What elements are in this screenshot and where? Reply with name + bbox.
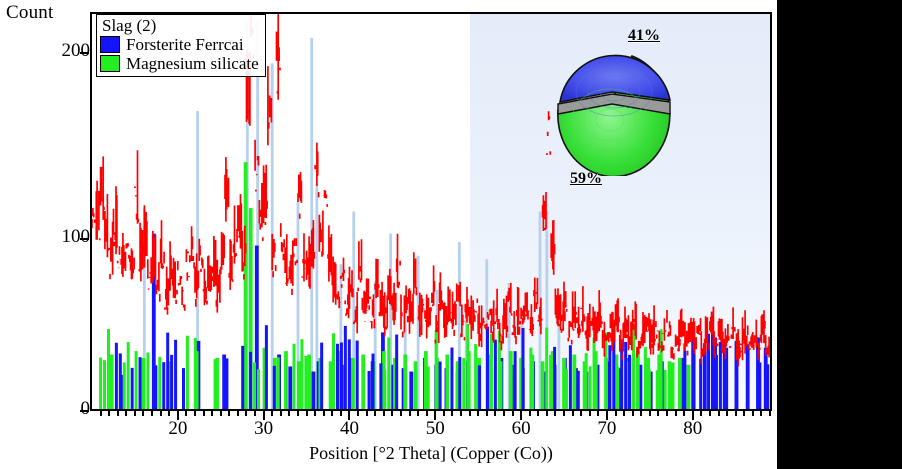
reference-stick [678,358,682,409]
x-tick-label: 60 [501,418,541,440]
x-tick-minor [451,411,453,416]
x-tick-minor [443,411,445,416]
x-tick-minor [400,411,402,416]
reference-stick [241,346,244,409]
x-tick-minor [357,411,359,416]
reference-stick [624,342,627,409]
x-tick-minor [306,411,308,416]
x-tick-minor [709,411,711,416]
y-tick-label-0: 0 [20,398,90,420]
x-tick-minor [125,411,127,416]
reference-stick [361,355,365,409]
reference-stick [589,366,592,409]
screenshot-root: Count 0 100 200 20304050607080 Position … [0,0,902,469]
x-tick-minor [409,411,411,416]
x-tick-minor [597,411,599,416]
reference-stick [182,368,185,409]
reference-stick [553,347,556,409]
x-tick-minor [168,411,170,416]
reference-stick [371,354,374,409]
x-tick-label: 40 [329,418,369,440]
x-tick-label: 50 [415,418,455,440]
x-tick-minor [366,411,368,416]
reference-stick [336,344,339,409]
reference-stick [194,338,197,409]
reference-stick [154,365,157,409]
reference-stick [565,369,568,409]
x-tick-minor [460,411,462,416]
x-tick-minor [340,411,342,416]
reference-stick [758,362,761,409]
x-tick-label: 20 [158,418,198,440]
reference-stick [486,327,489,409]
x-tick-minor [391,411,393,416]
reference-stick [265,325,268,409]
x-tick-minor [486,411,488,416]
reference-stick [766,364,769,409]
x-tick-minor [469,411,471,416]
x-tick-minor [666,411,668,416]
legend-swatch-green [100,55,120,72]
reference-stick [509,351,513,409]
reference-stick [174,340,177,409]
reference-stick [158,357,161,409]
reference-stick [458,357,461,409]
reference-stick [687,365,691,409]
reference-stick [644,347,647,409]
x-tick-minor [245,411,247,416]
reference-stick [127,342,130,409]
x-tick-minor [726,411,728,416]
x-tick-label: 80 [673,418,713,440]
reference-stick [522,328,525,409]
reference-stick [285,362,288,409]
reference-stick [577,371,580,409]
reference-stick [123,362,126,409]
x-tick-minor [572,411,574,416]
x-tick-minor [563,411,565,416]
x-tick-minor [374,411,376,416]
reference-stick [549,355,552,409]
reference-stick [672,362,675,409]
legend-label-magnesium-silicate: Magnesium silicate [126,54,259,73]
reference-stick [288,366,292,409]
x-tick-minor [589,411,591,416]
reference-stick [462,358,465,409]
reference-stick [253,362,256,409]
x-tick-minor [211,411,213,416]
x-tick-minor [134,411,136,416]
reference-stick [293,344,296,409]
reference-stick [119,353,122,409]
reference-stick [225,358,228,409]
x-tick-minor [503,411,505,416]
reference-stick [414,361,418,409]
x-tick-label: 30 [244,418,284,440]
reference-stick [427,367,430,409]
y-tick-label-100: 100 [20,226,90,248]
reference-stick [656,370,659,409]
reference-stick [135,351,138,409]
reference-stick [403,355,407,409]
reference-stick [498,331,501,409]
x-tick-minor [615,411,617,416]
reference-stick [332,333,335,409]
reference-stick [249,352,252,409]
reference-stick [297,361,301,409]
x-tick-minor [220,411,222,416]
x-tick-minor [237,411,239,416]
reference-stick [466,324,469,409]
x-tick-minor [323,411,325,416]
reference-stick [746,344,750,409]
reference-stick [409,372,413,409]
pie-label-forsterite: 41% [628,27,660,45]
x-tick-minor [683,411,685,416]
x-tick-minor [580,411,582,416]
x-tick-minor [280,411,282,416]
legend-title: Slag (2) [100,16,259,35]
reference-stick [170,355,173,409]
x-tick-minor [760,411,762,416]
reference-stick [146,352,149,409]
phase-pie-chart [546,34,682,176]
reference-stick [585,353,588,409]
reference-stick [628,355,631,409]
x-tick-minor [254,411,256,416]
reference-stick [387,337,390,409]
reference-stick [139,357,142,409]
x-tick-minor [160,411,162,416]
x-tick-minor [657,411,659,416]
reference-stick [719,342,722,409]
x-tick-minor [117,411,119,416]
reference-stick [490,334,493,409]
reference-stick [344,326,347,409]
reference-stick [186,336,189,409]
x-tick-minor [512,411,514,416]
reference-stick [304,356,307,409]
x-tick-minor [185,411,187,416]
reference-stick [244,162,248,409]
reference-stick [715,355,718,409]
reference-stick [383,370,386,409]
reference-stick [478,365,481,409]
x-tick-minor [529,411,531,416]
x-axis-title: Position [°2 Theta] (Copper (Co)) [90,443,772,464]
reference-stick [99,358,102,409]
reference-stick [683,350,686,409]
reference-stick [395,335,398,409]
x-tick-minor [108,411,110,416]
x-tick-minor [623,411,625,416]
x-tick-minor [383,411,385,416]
reference-stick [648,370,651,409]
reference-stick [572,355,576,409]
x-tick-minor [769,411,771,416]
x-tick-minor [297,411,299,416]
pie-svg [546,34,682,176]
x-tick-minor [426,411,428,416]
x-tick-minor [477,411,479,416]
reference-stick [445,355,449,409]
reference-stick [699,359,702,409]
x-tick-minor [752,411,754,416]
reference-stick [569,345,572,409]
legend-label-forsterite: Forsterite Ferrcai [126,35,244,54]
y-axis: 0 100 200 [0,0,90,469]
legend-item-magnesium-silicate: Magnesium silicate [100,54,259,73]
reference-stick [312,372,316,409]
reference-stick [529,348,532,409]
pie-label-magnesium-silicate: 59% [570,170,602,188]
x-tick-minor [554,411,556,416]
reference-stick [257,369,260,409]
reference-stick [356,341,359,409]
x-tick-minor [700,411,702,416]
reference-stick [541,361,545,409]
legend-item-forsterite: Forsterite Ferrcai [100,35,259,54]
x-tick-minor [288,411,290,416]
reference-stick [162,362,165,409]
reference-stick [307,355,311,409]
reference-stick [439,362,442,409]
reference-stick [348,339,351,409]
x-tick-minor [546,411,548,416]
x-tick-minor [718,411,720,416]
reference-stick [593,338,596,409]
x-tick-minor [649,411,651,416]
reference-stick [668,361,672,409]
x-tick-minor [228,411,230,416]
x-tick-minor [331,411,333,416]
reference-stick [616,367,619,409]
y-tick-label-200: 200 [20,40,90,62]
reference-stick [494,340,497,409]
reference-stick [514,351,517,409]
reference-stick [351,358,355,409]
reference-stick [103,360,106,409]
x-tick-minor [417,411,419,416]
x-tick-minor [632,411,634,416]
x-tick-minor [640,411,642,416]
reference-stick [273,366,276,409]
x-tick-minor [494,411,496,416]
reference-stick [340,342,343,409]
reference-stick [320,343,323,409]
reference-stick [329,361,333,409]
reference-stick [107,329,110,409]
x-tick-minor [314,411,316,416]
x-tick-minor [151,411,153,416]
x-tick-minor [271,411,273,416]
reference-stick [545,328,548,409]
reference-stick [703,369,706,409]
reference-stick [166,333,169,409]
reference-stick [368,371,371,409]
reference-stick [115,343,118,409]
legend-swatch-blue [100,36,120,53]
x-tick-label: 70 [587,418,627,440]
reference-stick [131,368,134,409]
reference-stick [214,359,217,409]
x-tick-minor [537,411,539,416]
reference-stick [450,348,453,409]
reference-stick [300,339,303,409]
x-tick-minor [142,411,144,416]
x-tick-minor [743,411,745,416]
x-tick-minor [203,411,205,416]
x-tick-minor [100,411,102,416]
reference-stick [636,351,640,409]
reference-stick [110,355,114,409]
reference-stick [379,363,382,409]
x-tick-minor [194,411,196,416]
legend: Slag (2) Forsterite Ferrcai Magnesium si… [96,14,266,77]
reference-stick [664,370,667,409]
reference-stick [277,357,280,409]
x-tick-minor [735,411,737,416]
reference-stick [474,344,477,409]
x-tick-minor [675,411,677,416]
reference-stick [142,358,146,409]
reference-stick [608,345,611,409]
